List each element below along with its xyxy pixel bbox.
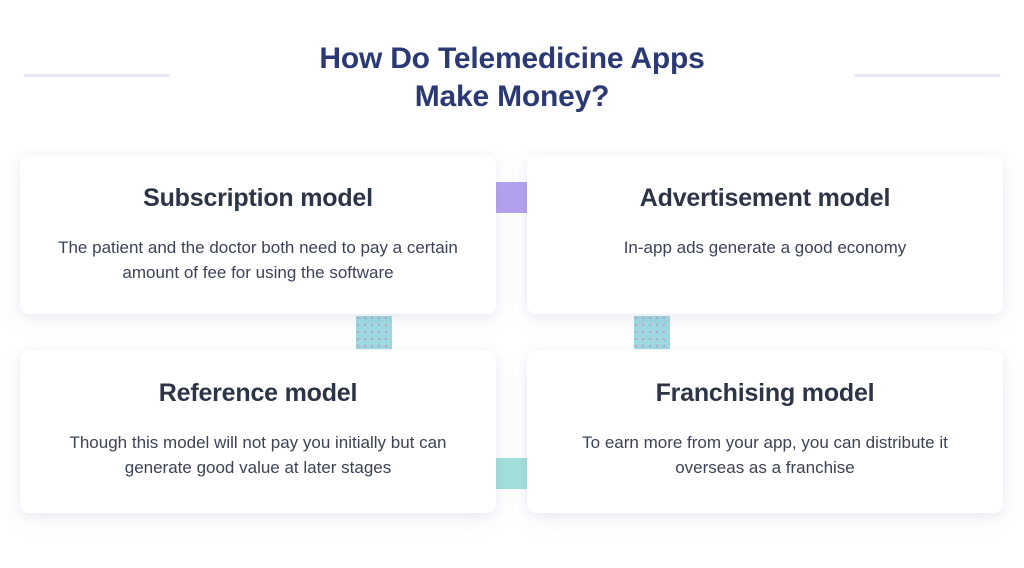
card-body: To earn more from your app, you can dist… — [549, 430, 981, 480]
page-title-line-1: How Do Telemedicine Apps — [0, 40, 1024, 78]
card-franchising-model: Franchising model To earn more from your… — [527, 350, 1003, 513]
card-title: Subscription model — [143, 183, 373, 213]
card-advertisement-model: Advertisement model In-app ads generate … — [527, 155, 1003, 314]
dotted-teal-square-right-icon — [634, 316, 670, 349]
mint-square-icon — [496, 458, 528, 489]
purple-square-icon — [496, 182, 528, 213]
dotted-teal-square-left-icon — [356, 316, 392, 349]
card-title: Advertisement model — [640, 183, 890, 213]
card-title: Reference model — [159, 378, 357, 408]
card-subscription-model: Subscription model The patient and the d… — [20, 155, 496, 314]
card-title: Franchising model — [656, 378, 875, 408]
card-body: The patient and the doctor both need to … — [42, 235, 474, 285]
page-title-line-2: Make Money? — [0, 78, 1024, 116]
title-divider-right-line — [854, 74, 1000, 77]
title-divider-left-line — [24, 74, 170, 77]
card-body: In-app ads generate a good economy — [624, 235, 907, 260]
card-body: Though this model will not pay you initi… — [42, 430, 474, 480]
page-title: How Do Telemedicine Apps Make Money? — [0, 40, 1024, 116]
infographic-canvas: How Do Telemedicine Apps Make Money? Sub… — [0, 0, 1024, 568]
card-reference-model: Reference model Though this model will n… — [20, 350, 496, 513]
